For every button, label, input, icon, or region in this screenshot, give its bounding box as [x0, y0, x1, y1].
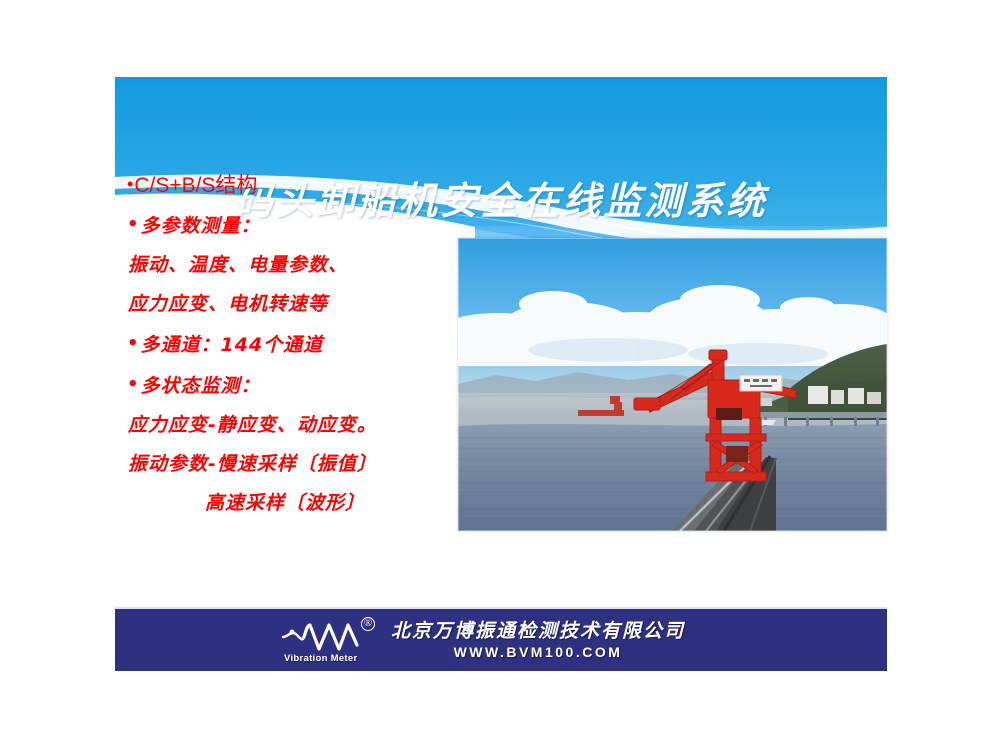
bullet-text-5: 多状态监测： — [141, 375, 261, 397]
bullet-line-6: 应力应变-静应变、动应变。 — [127, 406, 477, 445]
bullet-text-4: 多通道：144个通道 — [141, 334, 324, 356]
company-website-url: WWW.BVM100.COM — [454, 645, 623, 659]
company-name-cn: 北京万博振通检测技术有限公司 — [391, 622, 685, 641]
bullet-text-3: 应力应变、电机转速等 — [128, 293, 328, 315]
registered-trademark-icon: ® — [361, 617, 375, 631]
bullet-line-5: •多状态监测： — [127, 365, 477, 406]
bullet-line-8: 高速采样〔波形〕 — [127, 484, 477, 523]
ship-unloader-photo — [458, 238, 887, 531]
bullet-marker-5: • — [127, 365, 140, 404]
bullet-text-2: 振动、温度、电量参数、 — [128, 254, 348, 276]
slide-footer-bar: ® Vibration Meter 北京万博振通检测技术有限公司 WWW.BVM… — [115, 607, 887, 671]
bullet-marker-0: • — [127, 165, 133, 204]
slide-body-text: •C/S+B/S结构 •多参数测量： 振动、温度、电量参数、 应力应变、电机转速… — [127, 165, 477, 523]
logo-subtitle: Vibration Meter — [284, 653, 357, 664]
bullet-line-0: •C/S+B/S结构 — [127, 165, 477, 205]
bullet-text-6: 应力应变-静应变、动应变。 — [128, 414, 377, 436]
bullet-marker-4: • — [127, 324, 140, 363]
vibration-meter-logo-icon: ® Vibration Meter — [281, 617, 377, 663]
photo-illustration — [458, 238, 887, 531]
footer-content: ® Vibration Meter 北京万博振通检测技术有限公司 WWW.BVM… — [281, 617, 685, 663]
bullet-text-0: C/S+B/S结构 — [134, 174, 257, 197]
bullet-line-4: •多通道：144个通道 — [127, 324, 477, 365]
bullet-text-7: 振动参数-慢速采样〔振值〕 — [128, 453, 377, 475]
footer-text-block: 北京万博振通检测技术有限公司 WWW.BVM100.COM — [391, 622, 685, 659]
bullet-line-1: •多参数测量： — [127, 205, 477, 246]
bullet-text-8: 高速采样〔波形〕 — [205, 492, 365, 514]
bullet-line-7: 振动参数-慢速采样〔振值〕 — [127, 445, 477, 484]
bullet-line-2: 振动、温度、电量参数、 — [127, 246, 477, 285]
bullet-line-3: 应力应变、电机转速等 — [127, 285, 477, 324]
bullet-text-1: 多参数测量： — [141, 215, 261, 237]
bullet-marker-1: • — [127, 205, 140, 244]
presentation-slide: 码头卸船机安全在线监测系统 •C/S+B/S结构 •多参数测量： 振动、温度、电… — [115, 77, 887, 671]
